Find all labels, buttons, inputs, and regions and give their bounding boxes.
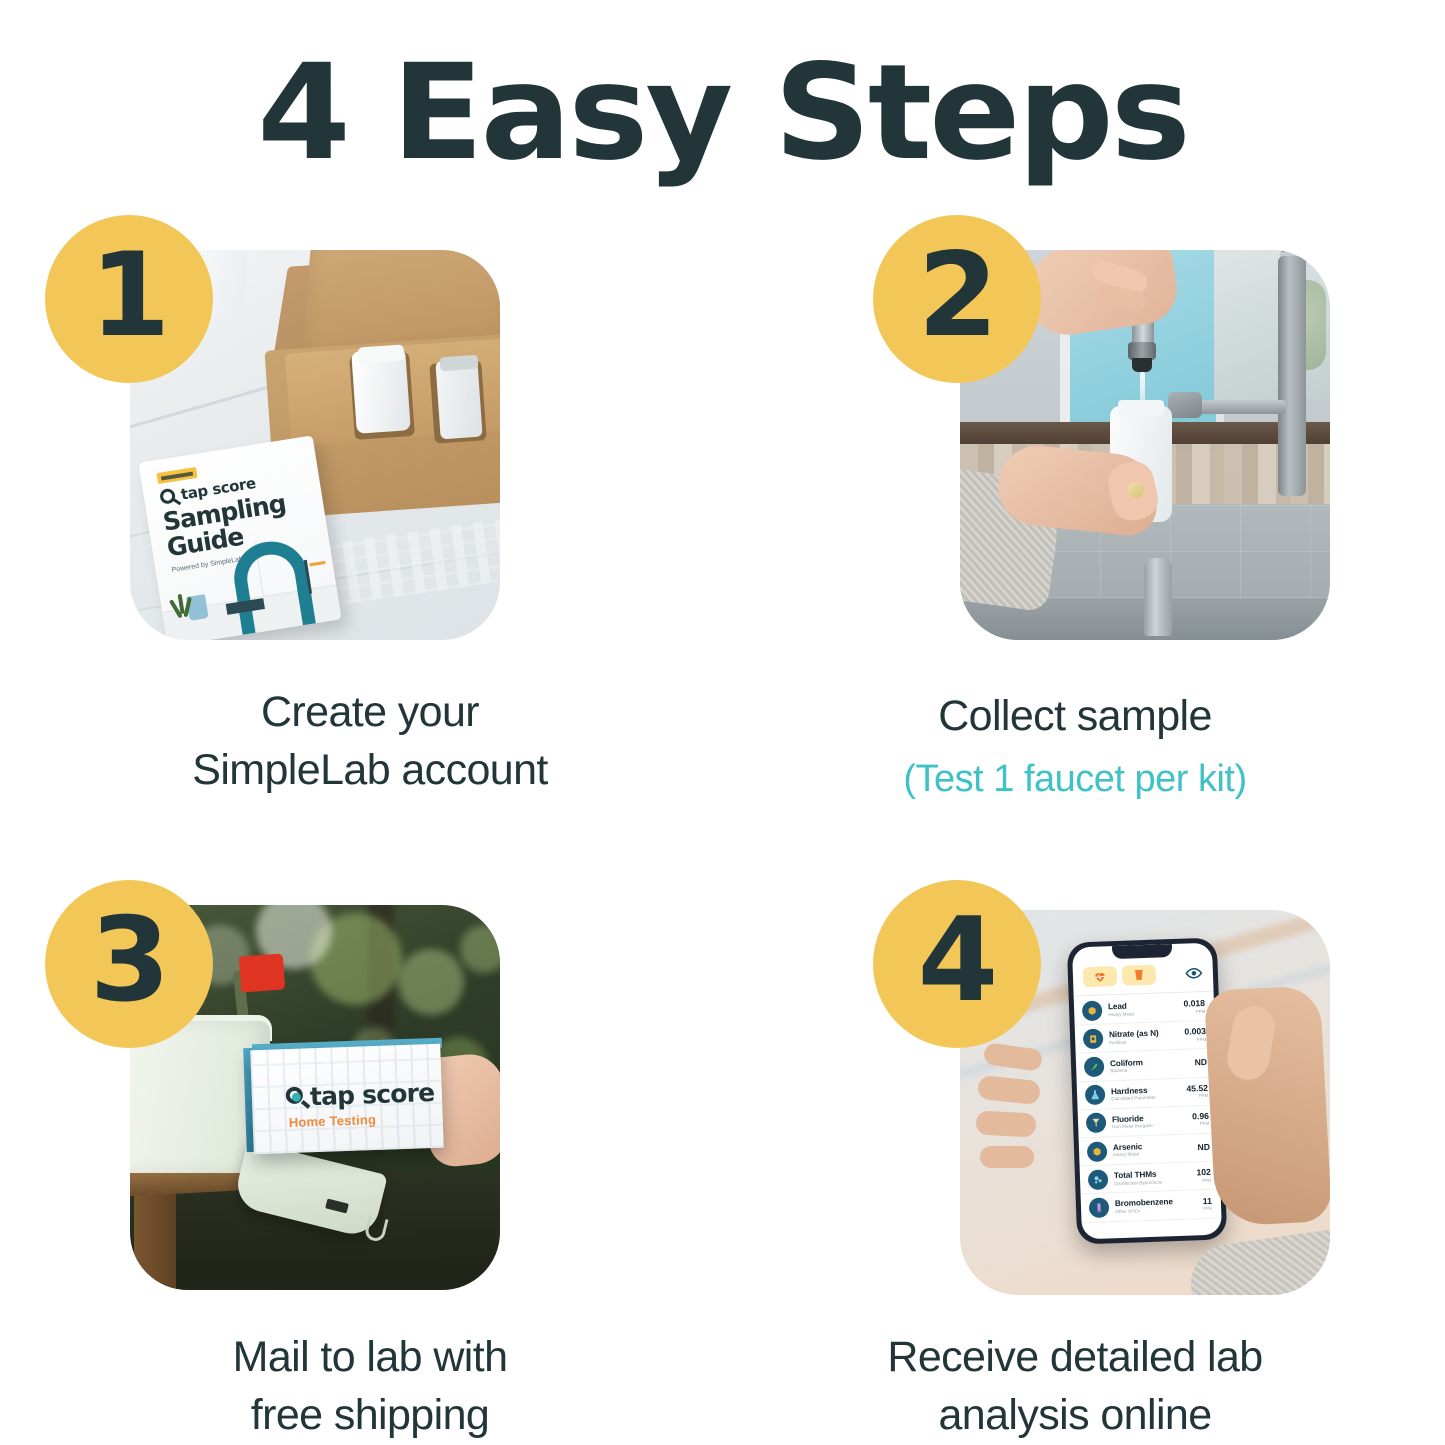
sample-vial-cap-icon — [440, 355, 479, 372]
result-labels: Lead Heavy Metal — [1108, 1000, 1178, 1017]
step-badge-3: 3 — [45, 880, 213, 1048]
result-unit: PPB — [1203, 1206, 1212, 1212]
step-4-caption: Receive detailed lab analysis online — [745, 1328, 1405, 1445]
result-value: ND — [1194, 1058, 1207, 1068]
result-value-group: ND — [1194, 1058, 1207, 1068]
page-title: 4 Easy Steps — [0, 42, 1445, 185]
flask-icon — [1085, 1085, 1106, 1106]
finger-icon — [980, 1146, 1034, 1168]
result-value: ND — [1197, 1143, 1210, 1153]
step-number-2: 2 — [918, 238, 997, 354]
faucet-column-icon — [1278, 256, 1306, 496]
step-2-subcaption: (Test 1 faucet per kit) — [745, 754, 1405, 806]
result-value-group: ND — [1197, 1143, 1210, 1153]
finger-icon — [977, 1075, 1041, 1105]
step-card-3: tap score Home Testing 3 Mail to lab wit… — [40, 880, 700, 1445]
faucet-head-icon — [1168, 392, 1202, 418]
heart-pulse-icon[interactable] — [1083, 966, 1118, 987]
phone-notch — [1112, 944, 1172, 959]
smartphone: Lead Heavy Metal 0.018 PPM — [1067, 937, 1227, 1244]
sample-bottle-cap-icon — [357, 344, 404, 363]
result-unit: PPB — [1197, 1178, 1212, 1184]
eye-icon[interactable] — [1185, 964, 1204, 983]
tap-score-box-brand: tap score — [309, 1078, 434, 1111]
result-value-group: 0.96 PPM — [1192, 1112, 1209, 1127]
step-badge-1: 1 — [45, 215, 213, 383]
step-4-caption-line1: Receive detailed lab — [887, 1333, 1262, 1381]
step-3-caption-line1: Mail to lab with — [233, 1333, 508, 1381]
results-toolbar — [1073, 959, 1214, 992]
faucet-arm-icon — [1190, 400, 1286, 414]
step-3-caption-line2: free shipping — [251, 1391, 489, 1439]
result-labels: Arsenic Heavy Metal — [1113, 1141, 1192, 1159]
mailbox-post — [134, 1181, 176, 1290]
sink-sprayer-icon — [1144, 558, 1172, 636]
result-value: 102 — [1196, 1168, 1211, 1178]
step-number-3: 3 — [90, 903, 169, 1019]
tap-score-logo-icon — [286, 1087, 304, 1105]
booklet-side-art — [304, 557, 331, 594]
table-row[interactable]: Bromobenzene Other VOCs 11 PPB — [1081, 1190, 1222, 1223]
sampling-guide-booklet: tap score Sampling Guide Powered by Simp… — [139, 435, 342, 640]
step-number-1: 1 — [90, 238, 169, 354]
bokeh-light — [398, 949, 464, 1015]
fertilizer-icon — [1083, 1028, 1104, 1049]
tap-score-box-subtitle: Home Testing — [289, 1112, 377, 1130]
result-value-group: 45.52 PPM — [1186, 1084, 1208, 1099]
result-unit: PPM — [1184, 1009, 1206, 1015]
step-1-caption-line1: Create your — [261, 688, 479, 736]
step-1-caption: Create your SimpleLab account — [40, 683, 700, 800]
bubbles-icon — [1088, 1169, 1109, 1190]
result-labels: Nitrate (as N) Fertilizer — [1109, 1028, 1179, 1045]
step-card-2: 2 Collect sample (Test 1 faucet per kit) — [745, 215, 1405, 815]
result-labels: Hardness Calculated Parameter — [1111, 1085, 1181, 1102]
funnel-icon — [1086, 1113, 1107, 1134]
heavy-metal-icon — [1082, 1000, 1103, 1021]
result-labels: Fluoride Non-Metal Inorganic — [1112, 1113, 1187, 1131]
sample-bottle-neck-icon — [1118, 400, 1164, 416]
step-3-caption: Mail to lab with free shipping — [40, 1328, 700, 1445]
results-list: Lead Heavy Metal 0.018 PPM — [1074, 993, 1222, 1223]
step-badge-2: 2 — [873, 215, 1041, 383]
beaker-cup-icon[interactable] — [1122, 965, 1157, 986]
result-unit: PPM — [1192, 1121, 1209, 1127]
mailbox-flag-icon — [239, 954, 285, 993]
step-card-1: tap score Sampling Guide Powered by Simp… — [40, 215, 700, 815]
heavy-metal-icon — [1087, 1141, 1108, 1162]
plant-illustration-icon — [167, 588, 195, 621]
result-labels: Total THMs Disinfection Byproducts — [1114, 1169, 1191, 1187]
result-value-group: 102 PPB — [1196, 1168, 1211, 1183]
result-value-group: 0.003 PPM — [1184, 1027, 1206, 1042]
aerator-tip-icon — [1132, 358, 1152, 372]
step-card-4: Lead Heavy Metal 0.018 PPM — [745, 880, 1405, 1445]
step-number-4: 4 — [918, 903, 997, 1019]
vial-icon — [1089, 1197, 1110, 1218]
result-labels: Coliform Bacteria — [1110, 1056, 1189, 1074]
result-category: Non-Metal Inorganic — [1112, 1122, 1186, 1130]
result-category: Calculated Parameter — [1111, 1094, 1181, 1102]
ring-icon — [1128, 482, 1144, 498]
result-value: 0.018 — [1183, 999, 1205, 1009]
phone-screen: Lead Heavy Metal 0.018 PPM — [1072, 943, 1222, 1240]
step-2-caption: Collect sample (Test 1 faucet per kit) — [745, 687, 1405, 806]
step-1-caption-line2: SimpleLab account — [192, 746, 548, 794]
result-value: 11 — [1203, 1196, 1212, 1206]
read-first-badge — [156, 467, 197, 484]
tap-score-box: tap score Home Testing — [250, 1044, 444, 1155]
tap-score-logo-icon — [159, 488, 176, 505]
step-2-caption-line1: Collect sample — [938, 692, 1212, 740]
step-4-caption-line2: analysis online — [938, 1391, 1211, 1439]
result-value-group: 0.018 PPM — [1183, 999, 1205, 1014]
infographic-root: 4 Easy Steps — [0, 0, 1445, 1445]
result-labels: Bromobenzene Other VOCs — [1115, 1197, 1197, 1215]
result-unit: PPM — [1187, 1093, 1209, 1099]
bacteria-icon — [1084, 1056, 1105, 1077]
result-value-group: 11 PPB — [1203, 1196, 1213, 1211]
finger-icon — [975, 1110, 1036, 1137]
bokeh-light — [460, 925, 500, 973]
result-unit: PPM — [1185, 1037, 1207, 1043]
step-badge-4: 4 — [873, 880, 1041, 1048]
